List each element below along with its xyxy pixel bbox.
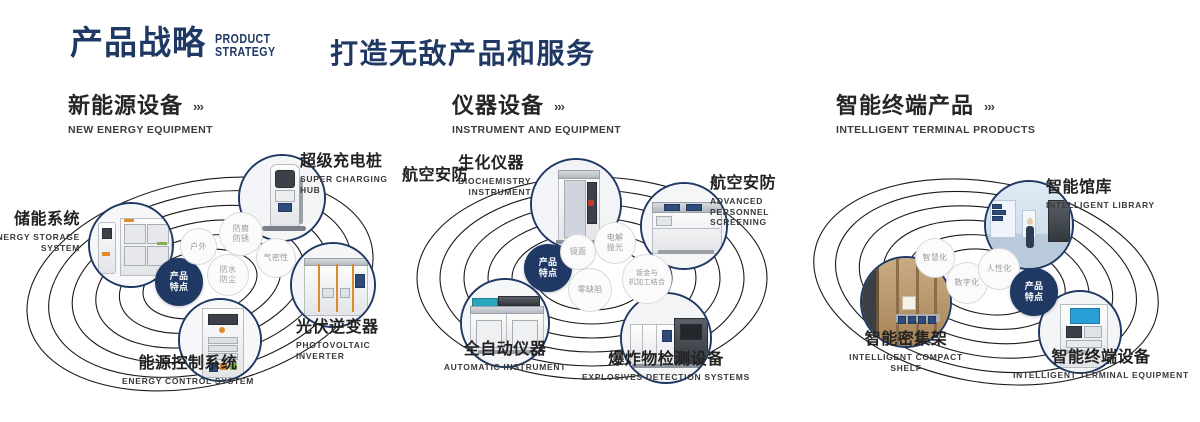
node-label-super-charging-hub: 超级充电桩 SUPER CHARGING HUB <box>300 154 400 195</box>
node-label-energy-storage-system: 储能系统 ENERGY STORAGE SYSTEM <box>0 212 80 253</box>
feature-bubble-airtight[interactable]: 气密性 <box>256 238 296 278</box>
section-title-cn: 新能源设备 <box>68 95 183 117</box>
feature-bubble-mirror[interactable]: 镜面 <box>560 234 596 270</box>
page-header: 产品战略 PRODUCT STRATEGY <box>70 26 289 59</box>
chevrons-right-icon: ››› <box>984 100 994 113</box>
section-title-en: INTELLIGENT TERMINAL PRODUCTS <box>836 124 1035 136</box>
cluster-instrument-and-equipment: 航空安防 生化仪器 BIOCHEMISTRY INSTRUMENT <box>392 150 792 412</box>
page-title-en-line2: STRATEGY <box>215 45 276 58</box>
section-title-en: NEW ENERGY EQUIPMENT <box>68 124 213 136</box>
node-label-intelligent-compact-shelf: 智能密集架 INTELLIGENT COMPACT SHELF <box>816 332 996 373</box>
section-title-new-energy: 新能源设备 ››› NEW ENERGY EQUIPMENT <box>68 95 213 136</box>
node-label-energy-control-system: 能源控制系统 ENERGY CONTROL SYSTEM <box>88 356 288 387</box>
page-subtitle: 打造无敌产品和服务 <box>330 32 596 72</box>
node-photovoltaic-inverter[interactable] <box>290 242 376 328</box>
feature-bubble-anticorrosion[interactable]: 防腐 防锈 <box>219 212 263 256</box>
section-title-instrument: 仪器设备 ››› INSTRUMENT AND EQUIPMENT <box>452 95 621 136</box>
section-title-cn: 仪器设备 <box>452 95 544 117</box>
node-label-intelligent-library: 智能馆库 INTELLIGENT LIBRARY <box>1046 180 1155 211</box>
feature-bubble-waterproof[interactable]: 防水 防尘 <box>207 254 249 296</box>
node-label-explosives-detection-systems: 爆炸物检测设备 EXPLOSIVES DETECTION SYSTEMS <box>576 352 756 383</box>
node-label-photovoltaic-inverter: 光伏逆变器 PHOTOVOLTAIC INVERTER <box>296 320 400 361</box>
section-title-cn: 智能终端产品 <box>836 95 974 117</box>
node-label-intelligent-terminal-equipment: 智能终端设备 INTELLIGENT TERMINAL EQUIPMENT <box>1006 350 1196 381</box>
node-label-biochemistry-instrument: 生化仪器 BIOCHEMISTRY INSTRUMENT <box>458 156 531 197</box>
node-label-automatic-instrument: 全自动仪器 AUTOMATIC INSTRUMENT <box>420 342 590 373</box>
cluster-intelligent-terminal-products: 智能馆库 INTELLIGENT LIBRARY 智能密集架 INTELLIGE… <box>788 150 1188 412</box>
feature-bubble-sheetmetal-machining[interactable]: 钣金与 机加工结合 <box>622 254 672 304</box>
feature-bubble-outdoor[interactable]: 户外 <box>180 228 217 265</box>
cluster-new-energy-equipment: 超级充电桩 SUPER CHARGING HUB 储能系统 ENERGY STO… <box>0 150 400 412</box>
feature-bubble-primary[interactable]: 产品 特点 <box>155 258 203 306</box>
section-title-intelligent-terminal: 智能终端产品 ››› INTELLIGENT TERMINAL PRODUCTS <box>836 95 1035 136</box>
feature-bubble-primary[interactable]: 产品 特点 <box>1010 268 1058 316</box>
feature-bubble-electropolishing[interactable]: 电解 抛光 <box>594 222 636 264</box>
feature-bubble-zero-defect[interactable]: 零缺陷 <box>568 268 612 312</box>
node-label-advanced-personnel-screening: 航空安防 ADVANCED PERSONNEL SCREENING <box>710 176 792 228</box>
chevrons-right-icon: ››› <box>193 100 203 113</box>
page-title-cn: 产品战略 <box>70 26 206 59</box>
product-strategy-infographic: 产品战略 PRODUCT STRATEGY 打造无敌产品和服务 新能源设备 ››… <box>0 0 1200 422</box>
chevrons-right-icon: ››› <box>554 100 564 113</box>
section-title-en: INSTRUMENT AND EQUIPMENT <box>452 124 621 136</box>
page-title-en: PRODUCT STRATEGY <box>215 32 276 58</box>
